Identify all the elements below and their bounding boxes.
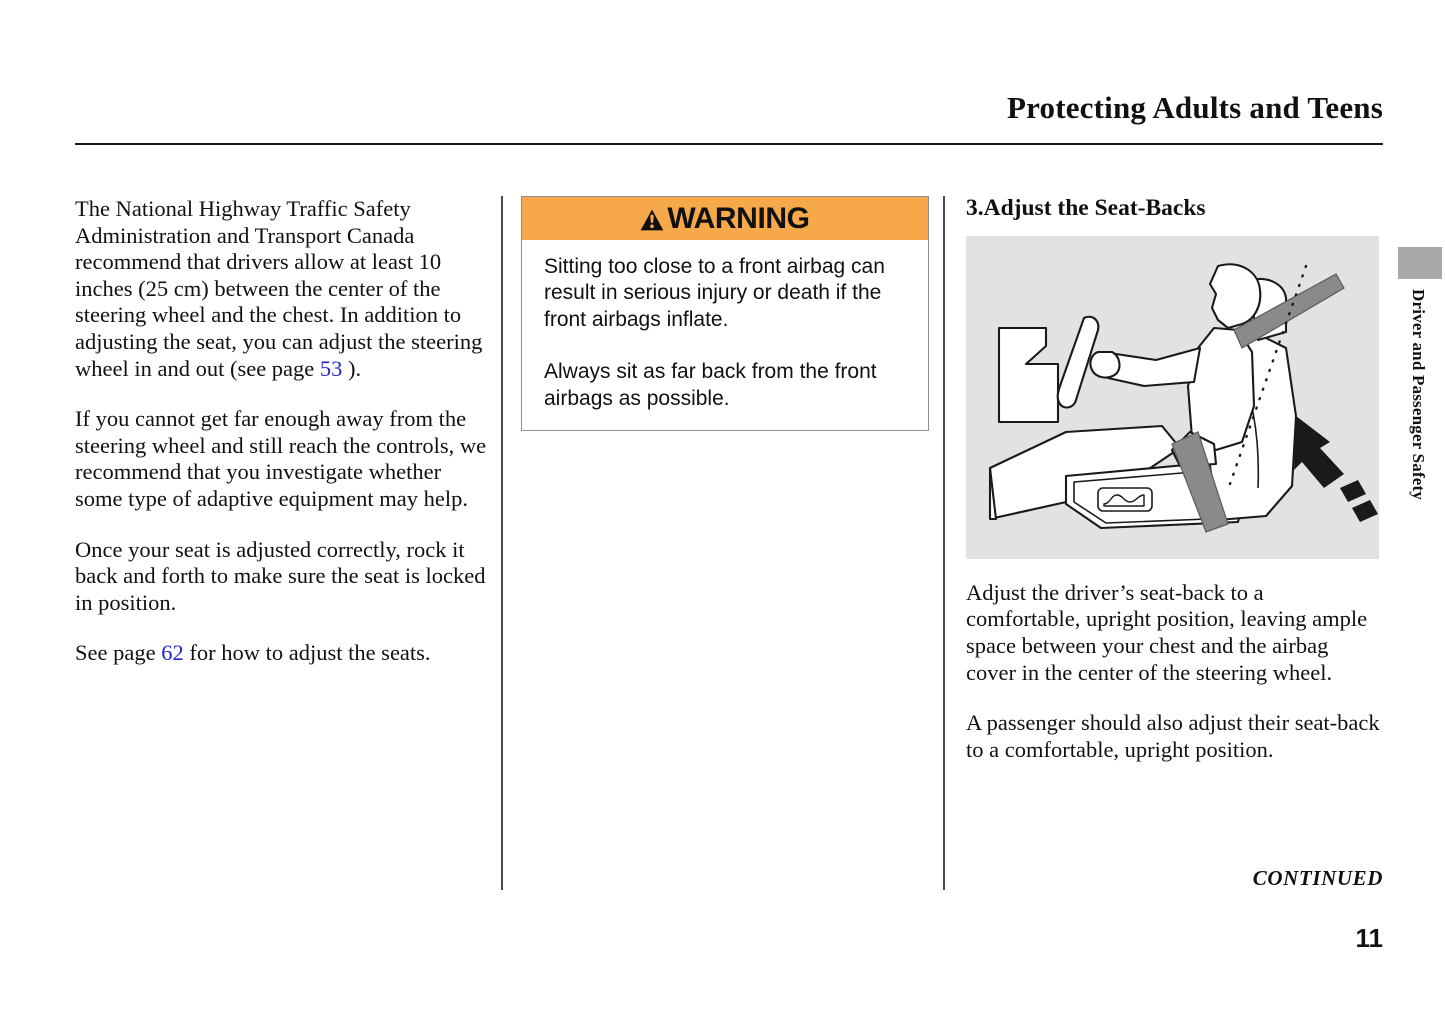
paragraph-text: If you cannot get far enough away from t… (75, 406, 486, 511)
right-column-text: Adjust the driver’s seat-back to a comfo… (966, 580, 1383, 764)
page-reference-link-62[interactable]: 62 (161, 640, 184, 665)
column-divider-right (943, 196, 945, 890)
side-tab-block (1398, 247, 1442, 279)
paragraph-adaptive-equipment: If you cannot get far enough away from t… (75, 406, 490, 512)
right-column: 3.Adjust the Seat-Backs (966, 196, 1383, 763)
warning-box: WARNING Sitting too close to a front air… (521, 196, 929, 431)
page-number: 11 (1240, 923, 1383, 954)
driver-seat-back-adjustment-illustration (966, 236, 1379, 559)
middle-column: WARNING Sitting too close to a front air… (521, 196, 931, 431)
paragraph-passenger-seat-back: A passenger should also adjust their sea… (966, 710, 1383, 763)
paragraph-adjust-driver-seat-back: Adjust the driver’s seat-back to a comfo… (966, 580, 1383, 686)
paragraph-text-tail: ). (342, 356, 361, 381)
continued-label: CONTINUED (966, 866, 1383, 891)
paragraph-text: See page (75, 640, 161, 665)
warning-label: WARNING (667, 204, 809, 234)
page-title: Protecting Adults and Teens (75, 92, 1383, 125)
column-divider-left (501, 196, 503, 890)
warning-triangle-icon (640, 209, 664, 231)
section-heading-adjust-seat-backs: 3.Adjust the Seat-Backs (966, 196, 1383, 222)
warning-header: WARNING (522, 197, 928, 240)
side-tab-label: Driver and Passenger Safety (1404, 289, 1428, 559)
page-reference-link-53[interactable]: 53 (320, 356, 343, 381)
paragraph-text: Once your seat is adjusted correctly, ro… (75, 537, 485, 615)
warning-body: Sitting too close to a front airbag can … (522, 240, 928, 430)
paragraph-seat-locked: Once your seat is adjusted correctly, ro… (75, 537, 490, 617)
left-column: The National Highway Traffic Safety Admi… (75, 196, 490, 667)
warning-paragraph-1: Sitting too close to a front airbag can … (544, 254, 906, 333)
paragraph-text: The National Highway Traffic Safety Admi… (75, 196, 482, 381)
paragraph-see-page-62: See page 62 for how to adjust the seats. (75, 640, 490, 667)
paragraph-nhtsa: The National Highway Traffic Safety Admi… (75, 196, 490, 382)
page-header: Protecting Adults and Teens (75, 92, 1383, 125)
warning-paragraph-2: Always sit as far back from the front ai… (544, 359, 906, 412)
paragraph-text-tail: for how to adjust the seats. (184, 640, 431, 665)
header-rule (75, 143, 1383, 145)
